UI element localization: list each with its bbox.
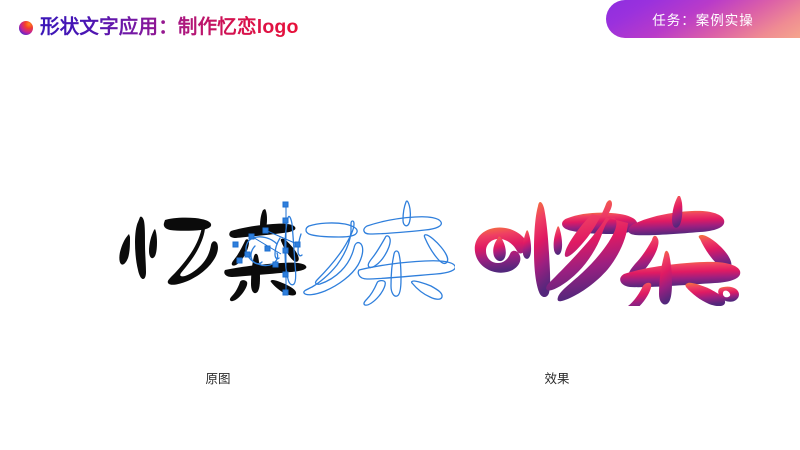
original-artwork [105, 196, 455, 306]
slide-canvas: 形状文字应用：制作忆恋logo 任务：案例实操 [0, 0, 800, 450]
page-title: 形状文字应用：制作忆恋logo [40, 12, 299, 42]
slide-header: 形状文字应用：制作忆恋logo 任务：案例实操 [0, 0, 800, 56]
effect-character-lian [620, 196, 740, 306]
slide-body: 原图 效果 [0, 56, 800, 450]
caption-effect: 效果 [497, 368, 617, 387]
vector-path-outline [246, 201, 455, 305]
gradient-circle-bullet-icon [19, 21, 33, 35]
caption-original: 原图 [158, 368, 278, 387]
original-logo-graphic [105, 196, 455, 306]
effect-artwork [462, 196, 762, 306]
task-badge: 任务：案例实操 [606, 0, 800, 38]
effect-logo-graphic [462, 196, 762, 306]
effect-character-yi [475, 200, 638, 301]
task-badge-label: 任务：案例实操 [652, 9, 754, 29]
calligraphy-character-yi [119, 217, 218, 285]
